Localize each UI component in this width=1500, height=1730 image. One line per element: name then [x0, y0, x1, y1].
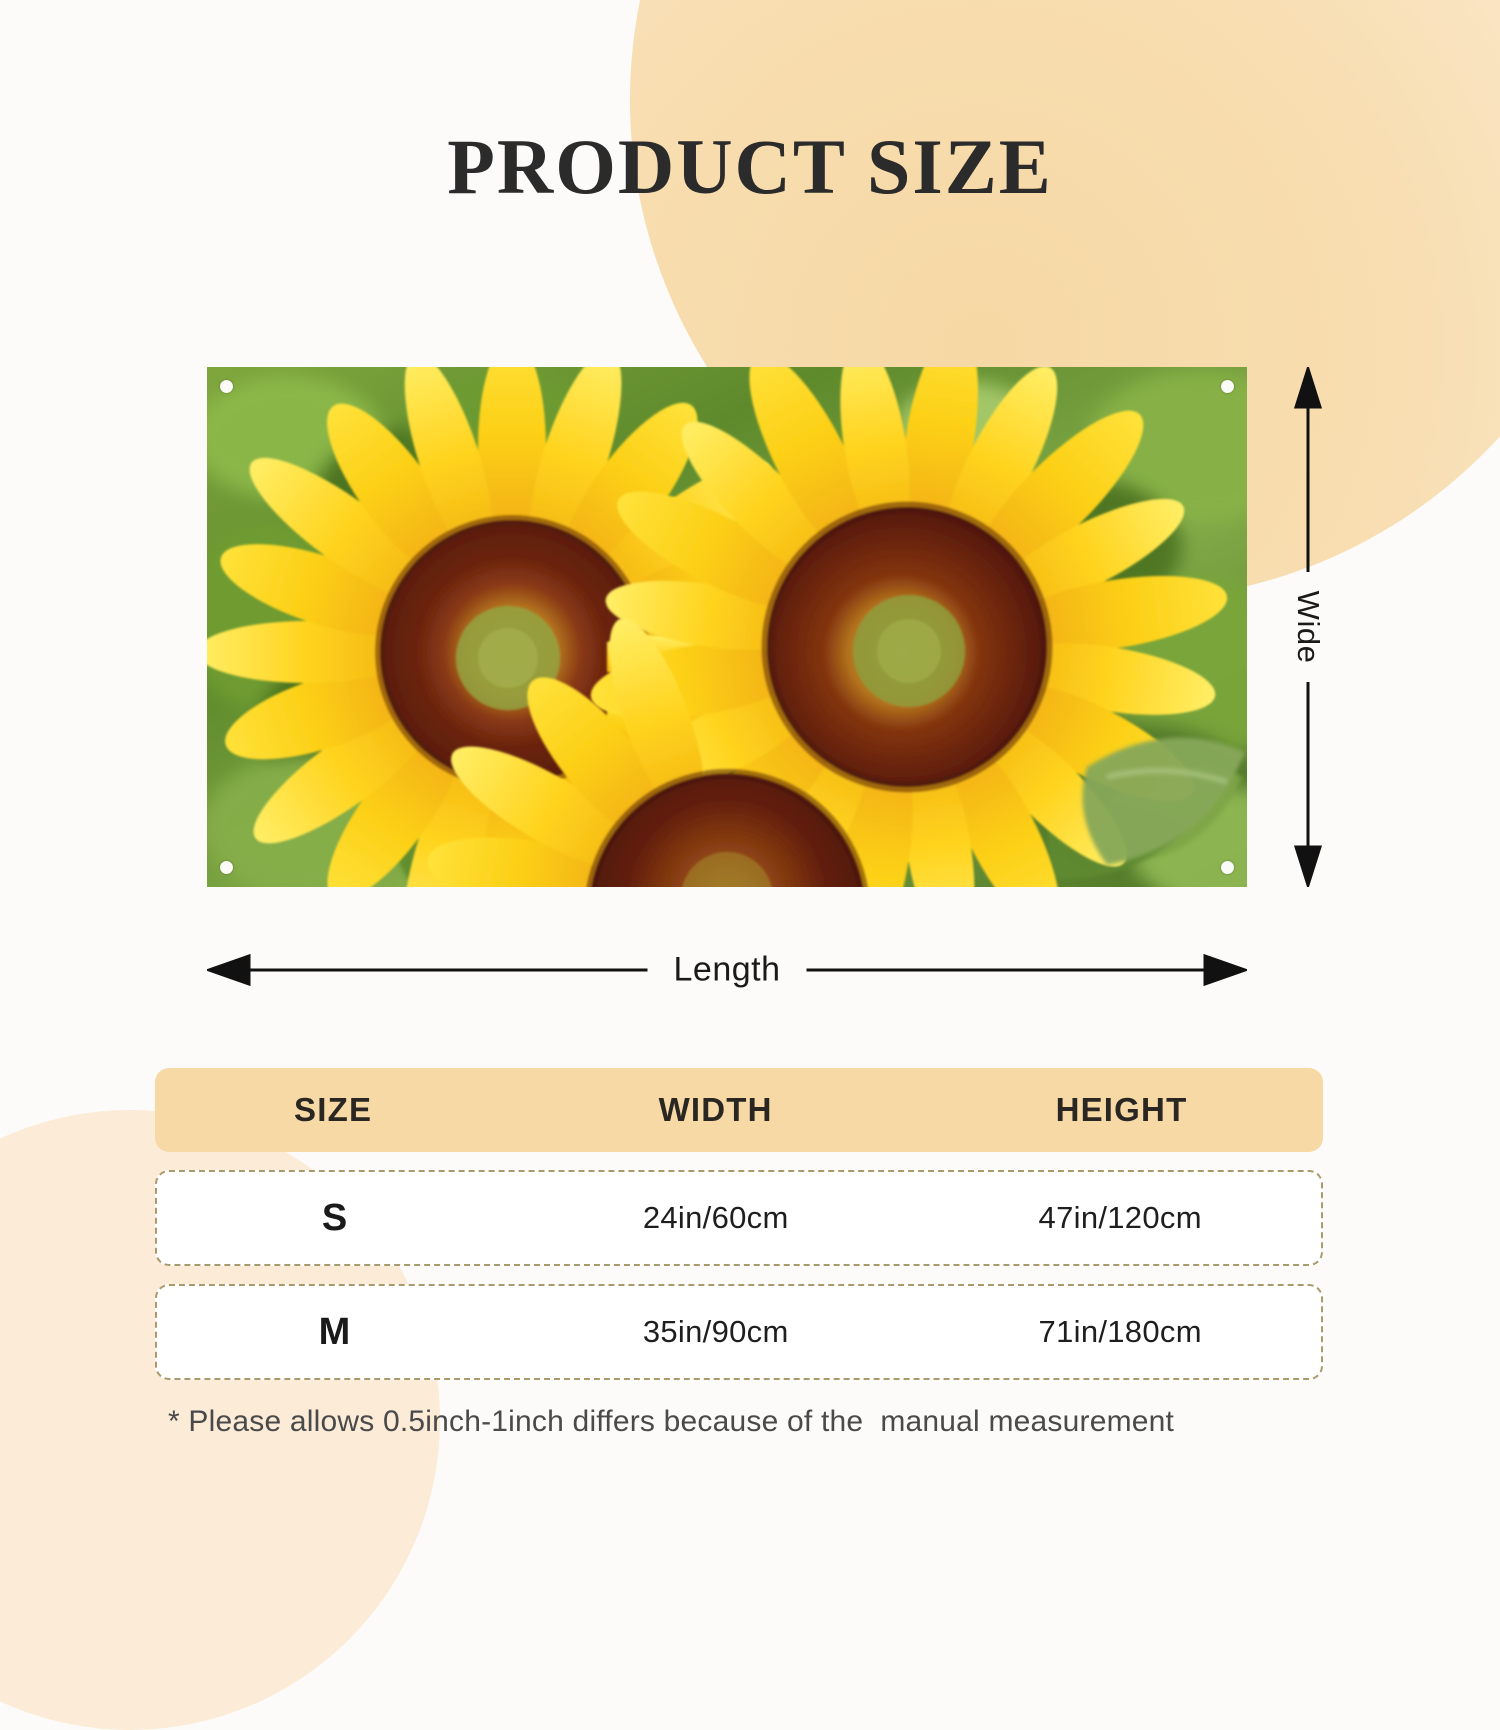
- column-header-size: SIZE: [155, 1091, 511, 1129]
- length-dimension-indicator: Length: [207, 930, 1247, 1010]
- column-header-height: HEIGHT: [920, 1091, 1323, 1129]
- page-title: PRODUCT SIZE: [0, 128, 1500, 206]
- grommet-top-right-icon: [1221, 380, 1234, 393]
- size-table: SIZE WIDTH HEIGHT S 24in/60cm 47in/120cm…: [155, 1068, 1323, 1380]
- row-size-m-label: M: [157, 1311, 512, 1354]
- wide-dimension-indicator: Wide: [1283, 367, 1333, 887]
- row-size-s-width: 24in/60cm: [512, 1200, 919, 1236]
- product-banner: [207, 367, 1247, 887]
- row-size-m-width: 35in/90cm: [512, 1314, 919, 1350]
- row-size-m-height: 71in/180cm: [919, 1314, 1321, 1350]
- sunflower-image: [207, 367, 1247, 887]
- grommet-top-left-icon: [220, 380, 233, 393]
- row-size-s-height: 47in/120cm: [919, 1200, 1321, 1236]
- grommet-bottom-right-icon: [1221, 861, 1234, 874]
- row-size-s-label: S: [157, 1197, 512, 1240]
- product-size-infographic: PRODUCT SIZE: [0, 0, 1500, 1500]
- table-row[interactable]: S 24in/60cm 47in/120cm: [155, 1170, 1323, 1266]
- length-label: Length: [648, 951, 807, 990]
- measurement-disclaimer: * Please allows 0.5inch-1inch differs be…: [168, 1405, 1174, 1439]
- table-header-row: SIZE WIDTH HEIGHT: [155, 1068, 1323, 1152]
- table-row[interactable]: M 35in/90cm 71in/180cm: [155, 1284, 1323, 1380]
- column-header-width: WIDTH: [511, 1091, 920, 1129]
- wide-label: Wide: [1290, 591, 1326, 664]
- grommet-bottom-left-icon: [220, 861, 233, 874]
